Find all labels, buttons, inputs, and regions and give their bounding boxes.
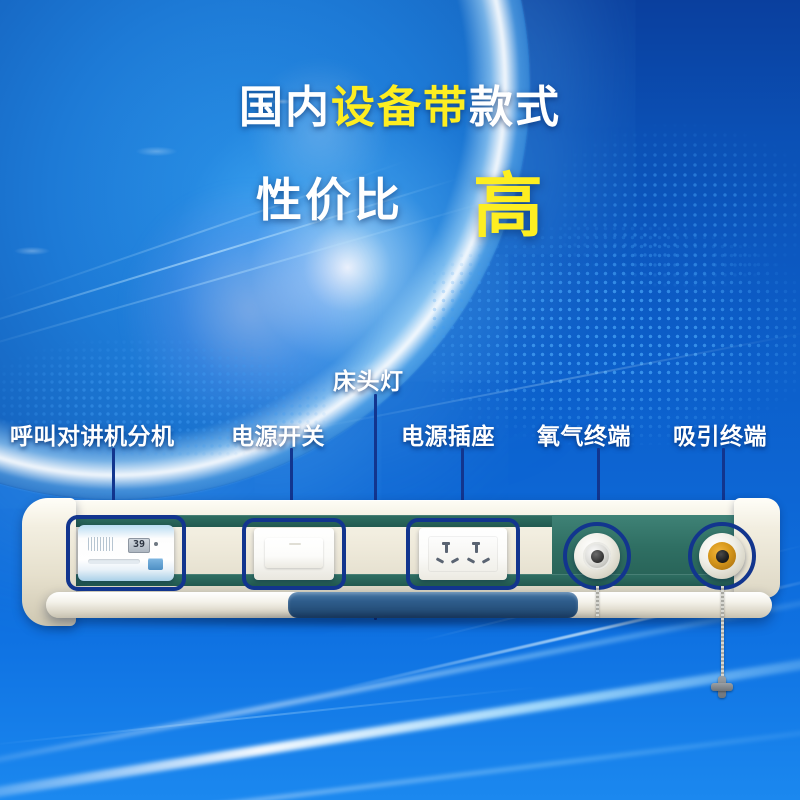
headline-high-text: 高 <box>473 167 544 245</box>
headline-line-1: 国内设备带款式 <box>0 86 800 130</box>
callout-highlight-oxygen <box>563 522 631 590</box>
callout-label-bedlight: 床头灯 <box>333 362 404 396</box>
headline-part-2: 设备带 <box>331 86 469 130</box>
glow-band <box>0 636 800 800</box>
headline-part-1: 国内 <box>239 86 331 130</box>
callout-label-intercom: 呼叫对讲机分机 <box>10 417 175 451</box>
halftone-dot-map <box>430 215 800 445</box>
callout-label-switch: 电源开关 <box>231 417 325 451</box>
callout-highlight-socket <box>406 518 520 590</box>
callout-label-oxygen: 氧气终端 <box>537 417 631 451</box>
headline-part-3: 款式 <box>469 86 561 130</box>
callout-highlight-switch <box>242 518 346 590</box>
callout-highlight-suction <box>688 522 756 590</box>
headline-line-2: 性价比高 <box>0 165 800 235</box>
callout-highlight-intercom <box>66 515 186 591</box>
headline-value-text: 性价比 <box>256 174 403 226</box>
poster-canvas: 国内设备带款式 性价比高 呼叫对讲机分机 电源开关 床头灯 电源插座 氧气终端 … <box>0 0 800 800</box>
glow-band <box>0 712 800 800</box>
oxygen-cord <box>596 586 599 618</box>
panel-drop-shadow <box>40 612 760 628</box>
callout-label-socket: 电源插座 <box>401 417 495 451</box>
callout-label-suction: 吸引终端 <box>673 417 767 451</box>
pull-cord-handle-icon[interactable] <box>711 676 733 698</box>
pull-cord[interactable] <box>721 586 724 682</box>
light-streak <box>0 686 537 746</box>
